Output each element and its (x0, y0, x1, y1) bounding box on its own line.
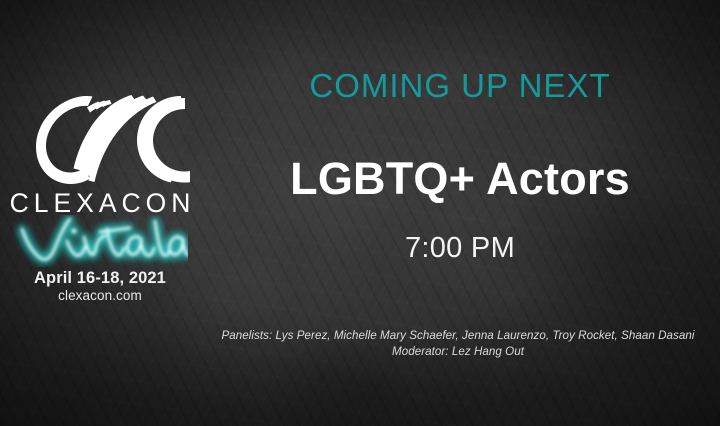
virtual-neon-script (0, 215, 200, 267)
clexacon-logo-lockup: CLEXACON (0, 92, 200, 305)
coming-up-next-slide: CLEXACON (0, 0, 720, 426)
clexacon-double-c-infinity-mark (10, 92, 190, 188)
coming-up-next-eyebrow: COMING UP NEXT (200, 69, 720, 102)
session-time: 7:00 PM (200, 234, 720, 263)
event-dates: April 16-18, 2021 (0, 269, 200, 288)
session-info-panel: COMING UP NEXT LGBTQ+ Actors 7:00 PM Pan… (200, 0, 720, 426)
clexacon-wordmark: CLEXACON (0, 190, 200, 217)
session-credits: Panelists: Lys Perez, Michelle Mary Scha… (198, 328, 718, 359)
panelists-line: Panelists: Lys Perez, Michelle Mary Scha… (198, 328, 718, 344)
event-website: clexacon.com (0, 288, 200, 304)
moderator-line: Moderator: Lez Hang Out (198, 344, 718, 360)
session-title: LGBTQ+ Actors (200, 156, 720, 201)
